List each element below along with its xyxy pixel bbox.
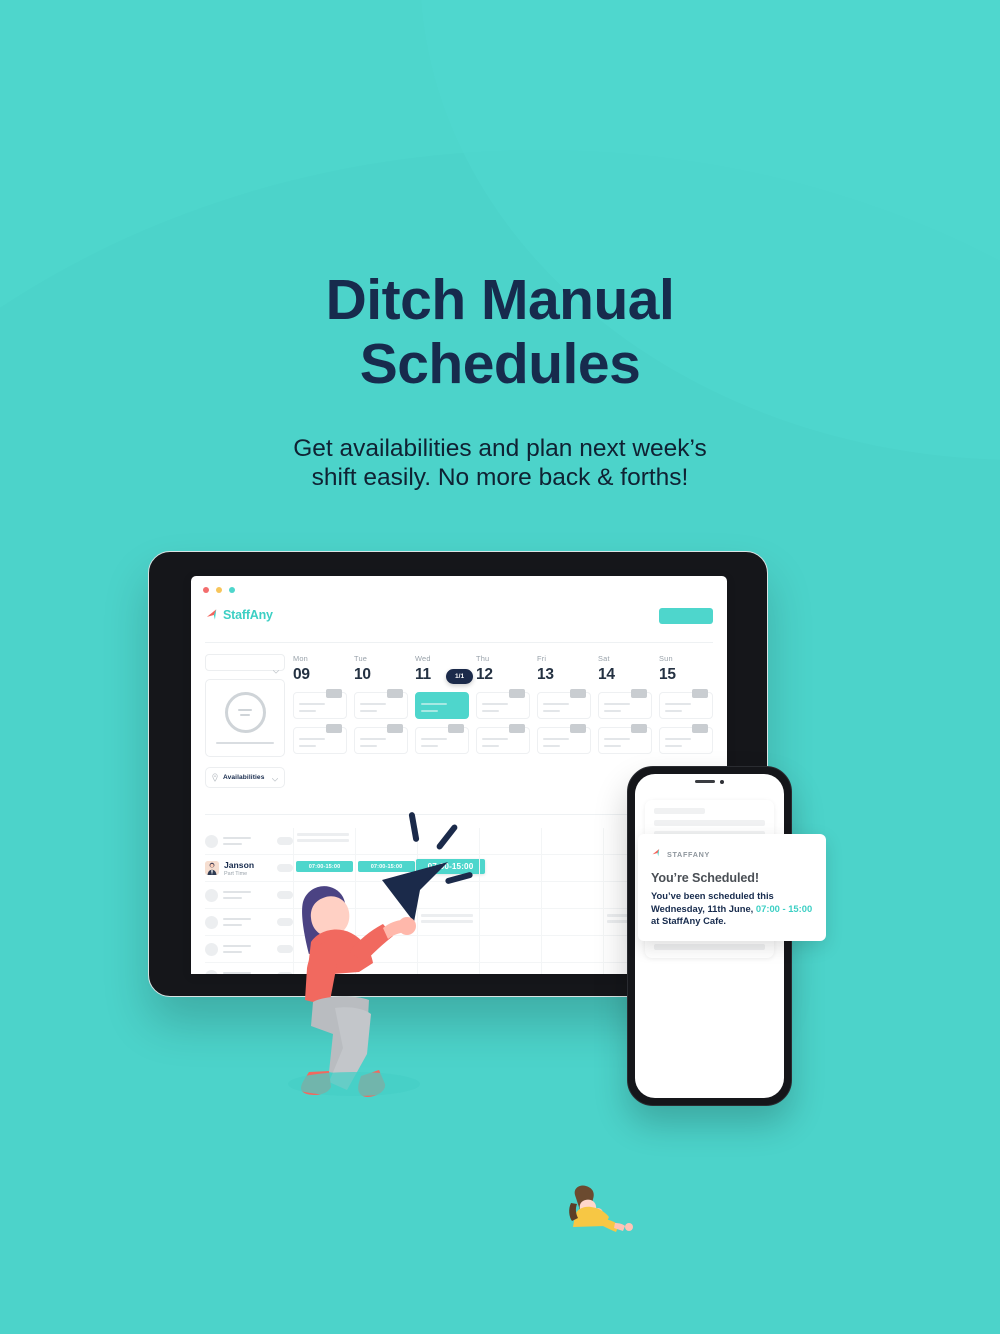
avatar (205, 889, 218, 902)
shift-card-tag (326, 724, 342, 733)
schedule-cell-fri[interactable] (541, 936, 603, 962)
placeholder-line (360, 745, 377, 747)
phone-speaker (695, 780, 715, 783)
avatar (205, 943, 218, 956)
placeholder-line (543, 745, 560, 747)
notification-title: You’re Scheduled! (651, 871, 813, 885)
page-subtitle: Get availabilities and plan next week’s … (0, 434, 1000, 492)
day-column-mon[interactable]: Mon09 (293, 654, 347, 754)
staff-hours-pill (277, 864, 293, 872)
shift-card[interactable] (415, 727, 469, 754)
placeholder-line (665, 738, 691, 740)
page-title-line1: Ditch Manual (326, 268, 675, 332)
availabilities-chevron-icon (272, 769, 278, 787)
day-name: Fri (537, 654, 591, 663)
shift-card-tag (631, 689, 647, 698)
shift-card-tag (448, 724, 464, 733)
page-subtitle-line1: Get availabilities and plan next week’s (293, 435, 707, 462)
shift-card-tag (326, 689, 342, 698)
staff-cell[interactable]: JansonPart Time (205, 860, 293, 877)
shift-card[interactable] (659, 727, 713, 754)
day-column-tue[interactable]: Tue10 (354, 654, 408, 754)
staffany-arrow-icon (205, 608, 220, 622)
header-cta-button[interactable] (659, 608, 713, 624)
day-column-fri[interactable]: Fri13 (537, 654, 591, 754)
placeholder-line (604, 703, 630, 705)
shift-card[interactable] (476, 692, 530, 719)
day-name: Wed (415, 654, 469, 663)
placeholder-line (604, 738, 630, 740)
day-name: Sun (659, 654, 713, 663)
day-number: 10 (354, 666, 408, 684)
placeholder-line (223, 918, 251, 920)
placeholder-line (543, 738, 569, 740)
page-title: Ditch Manual Schedules (0, 268, 1000, 396)
shift-card[interactable] (293, 727, 347, 754)
staff-placeholder (223, 918, 269, 926)
staff-placeholder (223, 891, 269, 899)
shift-card-tag (692, 689, 708, 698)
app-header: StaffAny (191, 600, 727, 642)
shift-card[interactable] (415, 692, 469, 719)
shift-placeholder (297, 833, 349, 842)
avatar (205, 916, 218, 929)
shift-card[interactable] (598, 727, 652, 754)
day-number: 13 (537, 666, 591, 684)
day-name: Tue (354, 654, 408, 663)
week-header-row: Mon09Tue10Wed11Thu12Fri13Sat14Sun15 (293, 654, 713, 754)
placeholder-line (360, 738, 386, 740)
window-minimize-dot[interactable] (216, 587, 222, 593)
shift-card-tag (692, 724, 708, 733)
placeholder-line (223, 924, 242, 926)
day-number: 14 (598, 666, 652, 684)
placeholder-line (482, 710, 499, 712)
header-divider (205, 642, 713, 643)
placeholder-line (421, 703, 447, 705)
notification-body-time: 07:00 - 15:00 (756, 903, 812, 914)
placeholder-line (299, 738, 325, 740)
avatar (205, 861, 219, 875)
day-name: Thu (476, 654, 530, 663)
placeholder-line (482, 738, 508, 740)
schedule-cell-fri[interactable] (541, 963, 603, 974)
placeholder-line (299, 710, 316, 712)
schedule-cell-fri[interactable] (541, 909, 603, 935)
progress-ring-icon (225, 692, 266, 733)
placeholder-line (223, 843, 242, 845)
placeholder-line (299, 703, 325, 705)
day-number: 15 (659, 666, 713, 684)
placeholder-line (543, 710, 560, 712)
window-close-dot[interactable] (203, 587, 209, 593)
placeholder-line (482, 745, 499, 747)
notification-header: STAFFANY (651, 845, 813, 863)
schedule-cell-mon[interactable]: 07:00-15:00 (293, 855, 355, 881)
shift-card-tag (631, 724, 647, 733)
staff-role: Part Time (224, 871, 269, 877)
notification-body: You’ve been scheduled this Wednesday, 11… (651, 890, 813, 928)
placeholder-line (604, 745, 621, 747)
illustration-seated-woman (545, 1185, 641, 1247)
placeholder-line (665, 710, 682, 712)
schedule-cell-fri[interactable] (541, 882, 603, 908)
day-column-sat[interactable]: Sat14 (598, 654, 652, 754)
page-title-line2: Schedules (360, 332, 641, 396)
summary-placeholder-bar (216, 742, 274, 744)
ring-line-1 (238, 709, 252, 711)
placeholder-line (654, 944, 765, 950)
placeholder-line (421, 738, 447, 740)
shift-card-tag (387, 724, 403, 733)
notification-app-name: STAFFANY (667, 850, 710, 859)
placeholder-line (223, 951, 242, 953)
staffany-arrow-icon (651, 845, 662, 863)
placeholder-line (421, 745, 438, 747)
day-number: 09 (293, 666, 347, 684)
shift-card[interactable] (659, 692, 713, 719)
shift-card[interactable] (598, 692, 652, 719)
window-traffic-lights (203, 587, 235, 593)
shift-card-tag (387, 689, 403, 698)
day-column-thu[interactable]: Thu12 (476, 654, 530, 754)
window-maximize-dot[interactable] (229, 587, 235, 593)
schedule-cell-thu[interactable] (479, 936, 541, 962)
phone-camera-icon (720, 780, 724, 784)
day-column-sun[interactable]: Sun15 (659, 654, 713, 754)
shift-card-tag (509, 689, 525, 698)
placeholder-line (543, 703, 569, 705)
shift-card[interactable] (537, 727, 591, 754)
placeholder-line (223, 837, 251, 839)
schedule-cell-mon[interactable] (293, 828, 355, 854)
schedule-cell-thu[interactable] (479, 963, 541, 974)
placeholder-line (223, 891, 251, 893)
hero-section: Ditch Manual Schedules Get availabilitie… (0, 268, 1000, 492)
availabilities-label: Availabilities (223, 774, 264, 781)
staff-name: Janson (224, 860, 269, 870)
placeholder-line (223, 972, 251, 974)
placeholder-line (665, 703, 691, 705)
shift-chip[interactable]: 07:00-15:00 (296, 861, 353, 872)
placeholder-line (223, 897, 242, 899)
staff-cell[interactable] (205, 916, 293, 929)
placeholder-line (223, 945, 251, 947)
staffany-logo: StaffAny (205, 608, 273, 622)
staff-cell[interactable] (205, 889, 293, 902)
chevron-down-icon (273, 661, 279, 679)
placeholder-line (482, 703, 508, 705)
staff-placeholder (223, 972, 269, 974)
location-pin-icon (212, 769, 218, 787)
staff-hours-pill (277, 837, 293, 845)
staffing-count-badge: 1/1 (446, 669, 473, 684)
notification-body-part2: at StaffAny Cafe. (651, 915, 726, 926)
schedule-cell-fri[interactable] (541, 855, 603, 881)
day-name: Mon (293, 654, 347, 663)
shift-card-tag (570, 689, 586, 698)
day-number: 12 (476, 666, 530, 684)
staff-cell[interactable] (205, 943, 293, 956)
ring-line-2 (240, 714, 250, 716)
schedule-cell-fri[interactable] (541, 828, 603, 854)
staff-cell[interactable] (205, 835, 293, 848)
availabilities-dropdown[interactable]: Availabilities (205, 767, 285, 788)
illustration-ground-shadow (288, 1072, 420, 1096)
phone-notch (684, 777, 736, 786)
shift-card[interactable] (476, 727, 530, 754)
promo-page: Ditch Manual Schedules Get availabilitie… (0, 0, 1000, 1334)
summary-card (205, 679, 285, 757)
location-select[interactable] (205, 654, 285, 671)
staffany-logo-text: StaffAny (223, 608, 273, 622)
staff-cell[interactable] (205, 970, 293, 975)
shift-card-tag (509, 724, 525, 733)
avatar (205, 835, 218, 848)
placeholder-line (299, 745, 316, 747)
placeholder-line (360, 703, 386, 705)
placeholder-line (654, 808, 705, 814)
day-name: Sat (598, 654, 652, 663)
shift-card[interactable] (537, 692, 591, 719)
shift-card-tag (570, 724, 586, 733)
shift-card[interactable] (354, 692, 408, 719)
placeholder-line (604, 710, 621, 712)
shift-card[interactable] (293, 692, 347, 719)
placeholder-line (421, 710, 438, 712)
placeholder-line (654, 820, 765, 826)
staff-placeholder (223, 837, 269, 845)
page-subtitle-line2: shift easily. No more back & forths! (312, 464, 689, 491)
shift-card[interactable] (354, 727, 408, 754)
placeholder-line (360, 710, 377, 712)
placeholder-line (665, 745, 682, 747)
avatar (205, 970, 218, 975)
scheduled-notification-card[interactable]: STAFFANY You’re Scheduled! You’ve been s… (638, 834, 826, 941)
staff-placeholder (223, 945, 269, 953)
schedule-sidebar: Availabilities (205, 654, 285, 788)
